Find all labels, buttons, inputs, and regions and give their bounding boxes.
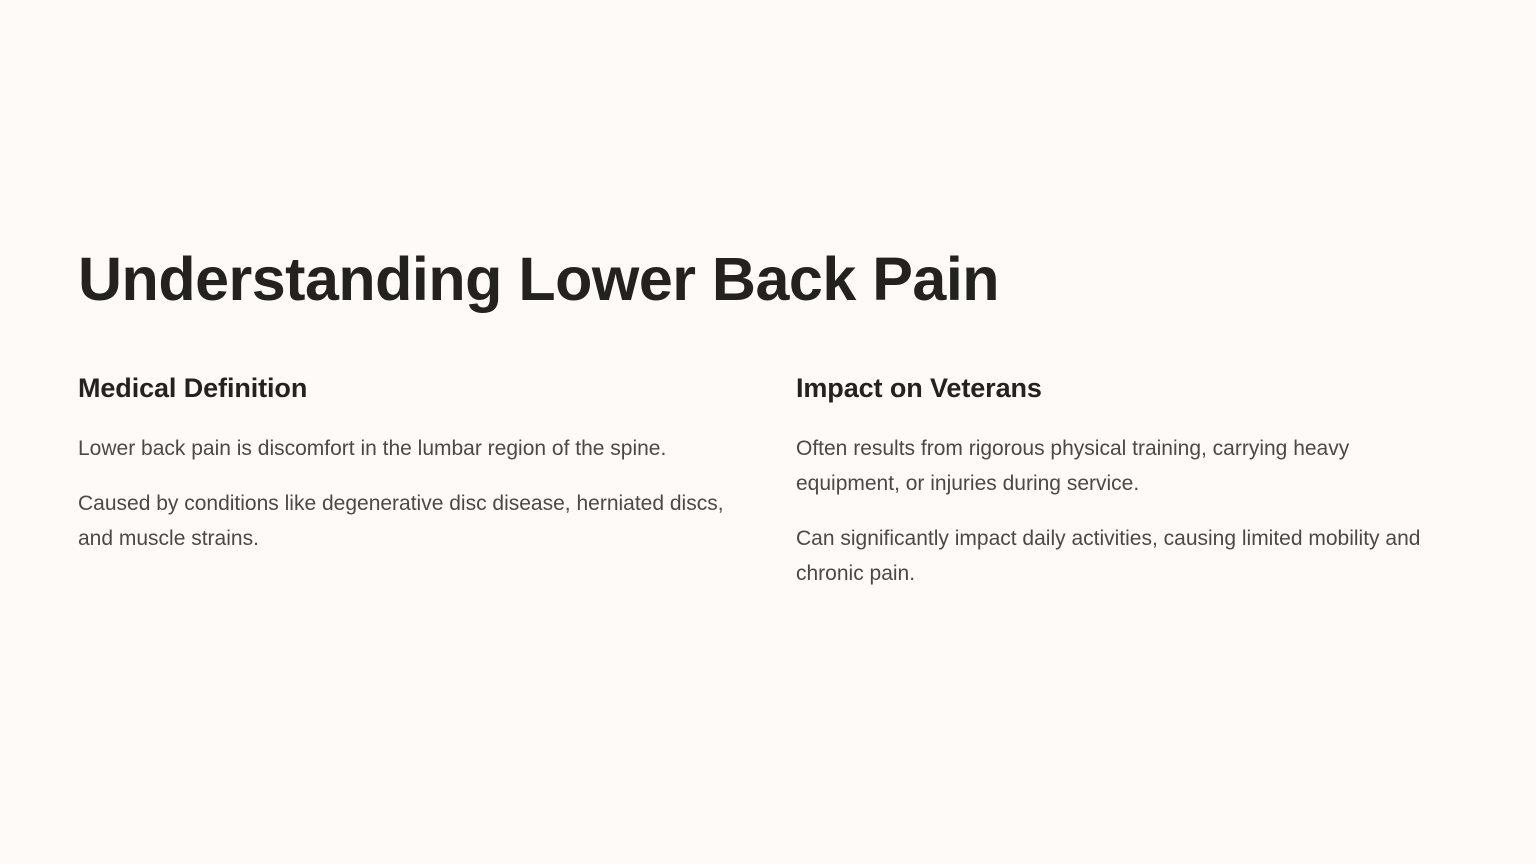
column-heading: Medical Definition (78, 372, 734, 404)
column-paragraph: Often results from rigorous physical tra… (796, 431, 1452, 501)
column-paragraph: Can significantly impact daily activitie… (796, 521, 1452, 591)
column-medical-definition: Medical Definition Lower back pain is di… (78, 372, 734, 591)
page-title: Understanding Lower Back Pain (78, 247, 999, 313)
content-columns: Medical Definition Lower back pain is di… (78, 372, 1452, 591)
column-heading: Impact on Veterans (796, 372, 1452, 404)
slide-root: Understanding Lower Back Pain Medical De… (0, 0, 1536, 864)
column-paragraph: Lower back pain is discomfort in the lum… (78, 431, 734, 466)
column-impact-on-veterans: Impact on Veterans Often results from ri… (796, 372, 1452, 591)
column-paragraph: Caused by conditions like degenerative d… (78, 486, 734, 556)
